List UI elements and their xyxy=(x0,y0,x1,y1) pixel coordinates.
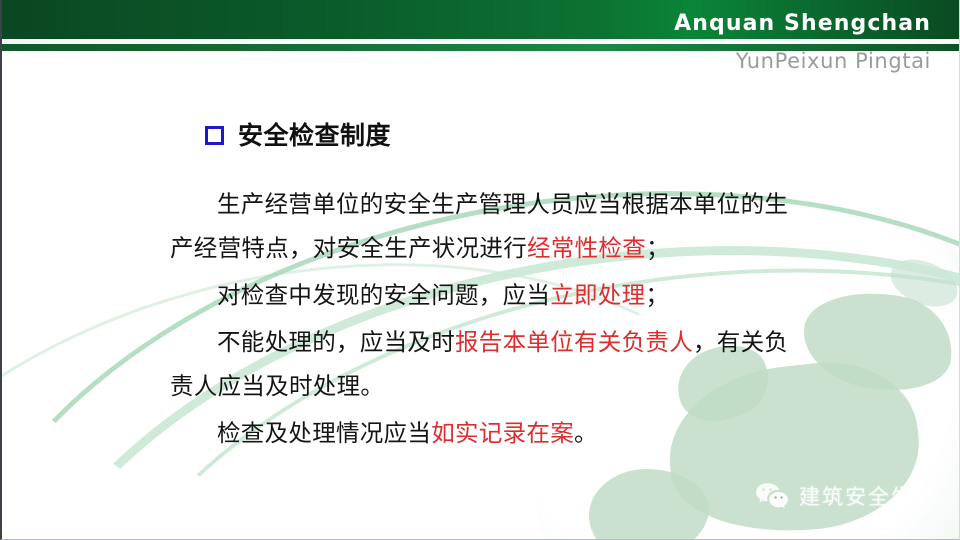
highlighted-text: 如实记录在案 xyxy=(431,419,574,447)
wechat-icon xyxy=(755,482,789,510)
plain-text: ； xyxy=(645,281,669,309)
plain-text: ； xyxy=(646,234,670,262)
plain-text: 不能处理的，应当及时 xyxy=(217,328,455,356)
page-title: 安全检查制度 xyxy=(238,123,391,148)
watermark-label: 建筑安全生产 xyxy=(799,481,937,511)
slide-content: 安全检查制度 生产经营单位的安全生产管理人员应当根据本单位的生产经营特点，对安全… xyxy=(2,0,959,539)
plain-text: 对检查中发现的安全问题，应当 xyxy=(217,281,550,309)
square-outline-icon xyxy=(205,126,224,145)
plain-text: 。 xyxy=(574,419,598,447)
highlighted-text: 经常性检查 xyxy=(527,234,646,262)
paragraph: 对检查中发现的安全问题，应当立即处理； xyxy=(170,273,790,317)
slide-canvas: Anquan Shengchan YunPeixun Pingtai 安全检查制… xyxy=(0,0,960,540)
paragraph: 生产经营单位的安全生产管理人员应当根据本单位的生产经营特点，对安全生产状况进行经… xyxy=(170,182,790,270)
body-text-block: 生产经营单位的安全生产管理人员应当根据本单位的生产经营特点，对安全生产状况进行经… xyxy=(170,182,790,458)
plain-text: 检查及处理情况应当 xyxy=(217,419,431,447)
plain-text: 生产经营单位的安全生产管理人员应当根据本单位的生产经营特点，对安全生产状况进行 xyxy=(170,190,788,262)
slide-title-row: 安全检查制度 xyxy=(205,123,391,148)
highlighted-text: 报告本单位有关负责人 xyxy=(455,328,693,356)
paragraph: 不能处理的，应当及时报告本单位有关负责人，有关负责人应当及时处理。 xyxy=(170,320,790,408)
highlighted-text: 立即处理 xyxy=(550,281,645,309)
paragraph: 检查及处理情况应当如实记录在案。 xyxy=(170,411,790,455)
watermark: 建筑安全生产 xyxy=(755,481,937,511)
